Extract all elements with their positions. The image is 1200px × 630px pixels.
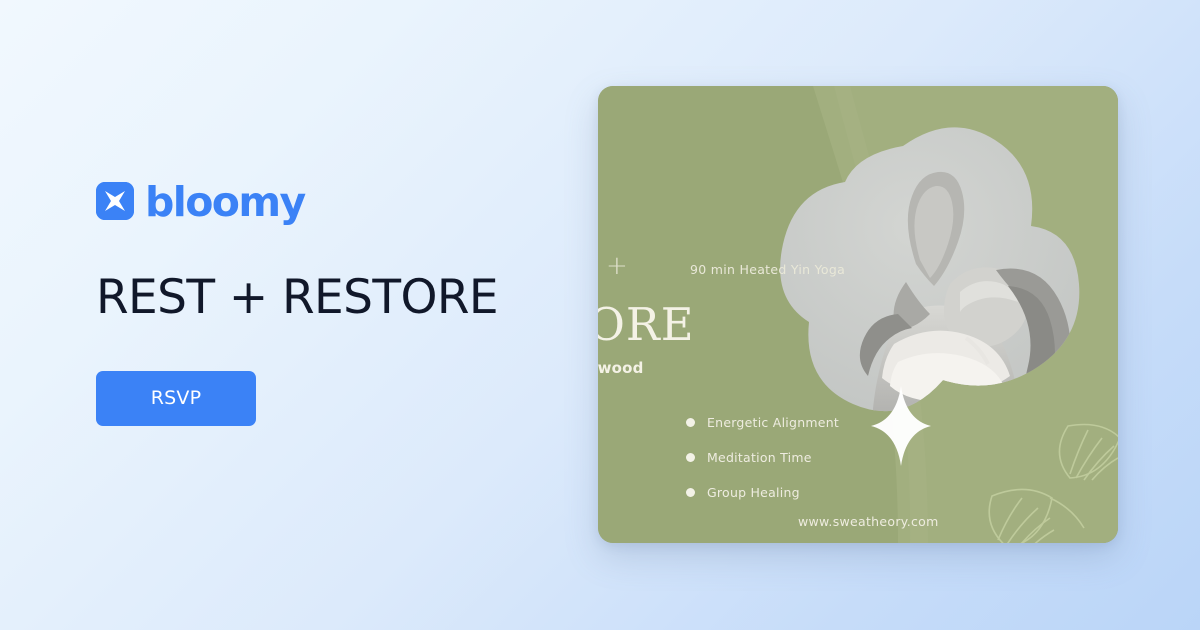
- bloomy-pinwheel-icon: [96, 182, 134, 220]
- bullet-dot-icon: [686, 453, 695, 462]
- list-item: Meditation Time: [686, 450, 839, 465]
- card-feature-list: Energetic Alignment Meditation Time Grou…: [686, 415, 839, 500]
- list-item: Group Healing: [686, 485, 839, 500]
- brand-wordmark: bloomy: [145, 182, 305, 223]
- left-content-panel: bloomy REST + RESTORE RSVP: [96, 178, 516, 426]
- rsvp-button[interactable]: RSVP: [96, 371, 256, 426]
- card-duration-label: 90 min Heated Yin Yoga: [690, 262, 845, 277]
- bullet-dot-icon: [686, 488, 695, 497]
- brand-lockup: bloomy: [96, 178, 516, 224]
- event-preview-card[interactable]: + 90 min Heated Yin Yoga ORE rwood gn. h…: [598, 86, 1118, 543]
- feature-label: Energetic Alignment: [707, 415, 839, 430]
- card-plus-mark: +: [606, 251, 628, 281]
- feature-label: Meditation Time: [707, 450, 812, 465]
- card-instructor: rwood: [598, 359, 644, 377]
- feature-label: Group Healing: [707, 485, 800, 500]
- bullet-dot-icon: [686, 418, 695, 427]
- card-title: ORE: [598, 298, 695, 351]
- list-item: Energetic Alignment: [686, 415, 839, 430]
- card-website-url: www.sweatheory.com: [798, 514, 939, 529]
- page-title: REST + RESTORE: [96, 274, 516, 323]
